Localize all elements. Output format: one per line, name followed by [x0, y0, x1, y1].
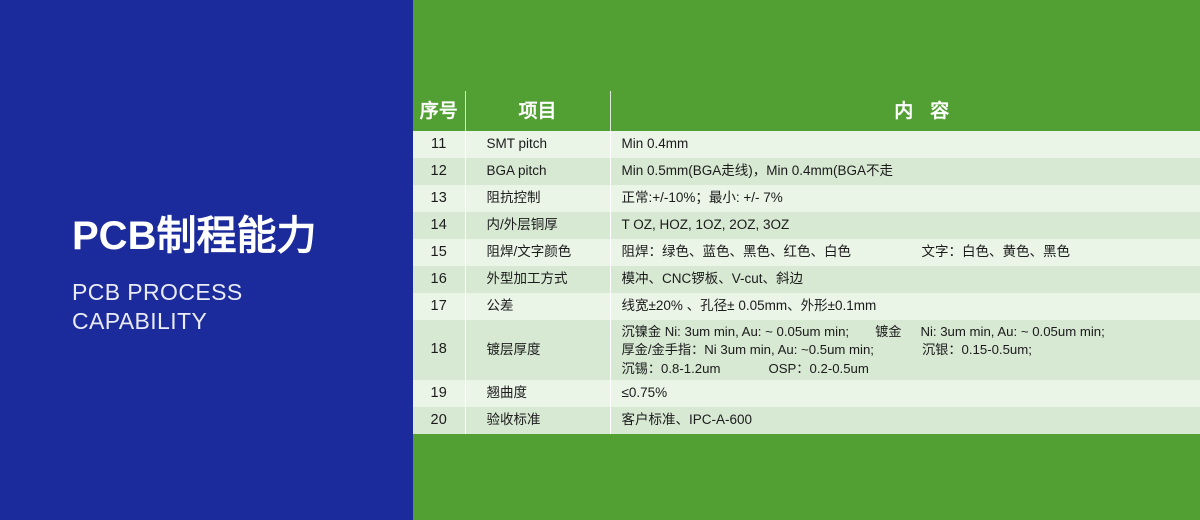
row-content: 线宽±20% 、孔径± 0.05mm、外形±0.1mm — [610, 293, 1200, 320]
row-content: Min 0.5mm(BGA走线)，Min 0.4mm(BGA不走 — [610, 158, 1200, 185]
row-content: Min 0.4mm — [610, 131, 1200, 158]
table-row: 13 阻抗控制 正常:+/-10%；最小: +/- 7% — [413, 185, 1200, 212]
page-subtitle-english: PCB PROCESS CAPABILITY — [72, 278, 402, 337]
row-no: 18 — [413, 320, 465, 380]
column-header-content: 内容 — [610, 91, 1200, 131]
column-header-no: 序号 — [413, 91, 465, 131]
row-item: 验收标准 — [465, 407, 610, 434]
table-row: 15 阻焊/文字颜色 阻焊：绿色、蓝色、黑色、红色、白色 文字：白色、黄色、黑色 — [413, 239, 1200, 266]
row-content: 沉镍金 Ni: 3um min, Au: ~ 0.05um min;镀金Ni: … — [610, 320, 1200, 380]
row-item: 内/外层铜厚 — [465, 212, 610, 239]
table-header-row: 序号 项目 内容 — [413, 91, 1200, 131]
row-no: 14 — [413, 212, 465, 239]
table-row: 19 翘曲度 ≤0.75% — [413, 380, 1200, 407]
row-item: 阻焊/文字颜色 — [465, 239, 610, 266]
spec-table-body: 11 SMT pitch Min 0.4mm 12 BGA pitch Min … — [413, 131, 1200, 434]
left-title-panel: PCB制程能力 PCB PROCESS CAPABILITY — [0, 0, 413, 520]
row-content: T OZ, HOZ, 1OZ, 2OZ, 3OZ — [610, 212, 1200, 239]
row-item: 公差 — [465, 293, 610, 320]
row-no: 12 — [413, 158, 465, 185]
row-item: 翘曲度 — [465, 380, 610, 407]
row-item: 外型加工方式 — [465, 266, 610, 293]
row-no: 16 — [413, 266, 465, 293]
page-subtitle-line-2: CAPABILITY — [72, 307, 402, 336]
table-row: 14 内/外层铜厚 T OZ, HOZ, 1OZ, 2OZ, 3OZ — [413, 212, 1200, 239]
table-row: 11 SMT pitch Min 0.4mm — [413, 131, 1200, 158]
row-content-line-1: 沉镍金 Ni: 3um min, Au: ~ 0.05um min;镀金Ni: … — [622, 323, 1200, 341]
row-no: 15 — [413, 239, 465, 266]
slide-root: PCB制程能力 PCB PROCESS CAPABILITY 序号 项目 — [0, 0, 1200, 520]
row-item: 阻抗控制 — [465, 185, 610, 212]
page-title-chinese: PCB制程能力 — [72, 214, 402, 259]
spec-table: 序号 项目 内容 11 SMT pitch Min 0 — [413, 91, 1200, 434]
row-content-line-3-b: OSP：0.2-0.5um — [768, 361, 868, 376]
row-content-line-3-a: 沉锡：0.8-1.2um — [622, 361, 721, 376]
page-subtitle-line-1: PCB PROCESS — [72, 278, 402, 307]
row-no: 17 — [413, 293, 465, 320]
row-content: ≤0.75% — [610, 380, 1200, 407]
row-content: 模冲、CNC锣板、V-cut、斜边 — [610, 266, 1200, 293]
row-no: 19 — [413, 380, 465, 407]
row-content-part-2: 文字：白色、黄色、黑色 — [922, 243, 1071, 261]
column-header-content-char-2: 容 — [930, 101, 949, 122]
row-item: BGA pitch — [465, 158, 610, 185]
column-header-content-char-1: 内 — [894, 101, 913, 122]
column-header-item: 项目 — [465, 91, 610, 131]
row-content-line-2-a: 厚金/金手指：Ni 3um min, Au: ~0.5um min; — [622, 342, 874, 357]
row-content-line-2-b: 沉银：0.15-0.5um; — [922, 342, 1032, 357]
row-no: 11 — [413, 131, 465, 158]
table-row: 12 BGA pitch Min 0.5mm(BGA走线)，Min 0.4mm(… — [413, 158, 1200, 185]
table-row: 18 镀层厚度 沉镍金 Ni: 3um min, Au: ~ 0.05um mi… — [413, 320, 1200, 380]
row-content-line-1-a: 沉镍金 Ni: 3um min, Au: ~ 0.05um min; — [622, 324, 850, 339]
table-row: 17 公差 线宽±20% 、孔径± 0.05mm、外形±0.1mm — [413, 293, 1200, 320]
row-content-line-1-b: 镀金 — [875, 324, 901, 339]
right-content-panel: 序号 项目 内容 11 SMT pitch Min 0 — [413, 0, 1200, 520]
row-item: SMT pitch — [465, 131, 610, 158]
spec-table-wrapper: 序号 项目 内容 11 SMT pitch Min 0 — [413, 91, 1200, 434]
row-item: 镀层厚度 — [465, 320, 610, 380]
row-content-line-2: 厚金/金手指：Ni 3um min, Au: ~0.5um min;沉银：0.1… — [622, 341, 1200, 359]
row-content-part-1: 阻焊：绿色、蓝色、黑色、红色、白色 — [622, 243, 922, 261]
row-content: 正常:+/-10%；最小: +/- 7% — [610, 185, 1200, 212]
row-content: 阻焊：绿色、蓝色、黑色、红色、白色 文字：白色、黄色、黑色 — [610, 239, 1200, 266]
title-block: PCB制程能力 PCB PROCESS CAPABILITY — [72, 214, 402, 337]
row-content-line-3: 沉锡：0.8-1.2umOSP：0.2-0.5um — [622, 360, 1200, 378]
row-no: 20 — [413, 407, 465, 434]
row-content-line-1-c: Ni: 3um min, Au: ~ 0.05um min; — [920, 324, 1104, 339]
table-row: 16 外型加工方式 模冲、CNC锣板、V-cut、斜边 — [413, 266, 1200, 293]
row-content: 客户标准、IPC-A-600 — [610, 407, 1200, 434]
spec-table-head: 序号 项目 内容 — [413, 91, 1200, 131]
row-no: 13 — [413, 185, 465, 212]
table-row: 20 验收标准 客户标准、IPC-A-600 — [413, 407, 1200, 434]
